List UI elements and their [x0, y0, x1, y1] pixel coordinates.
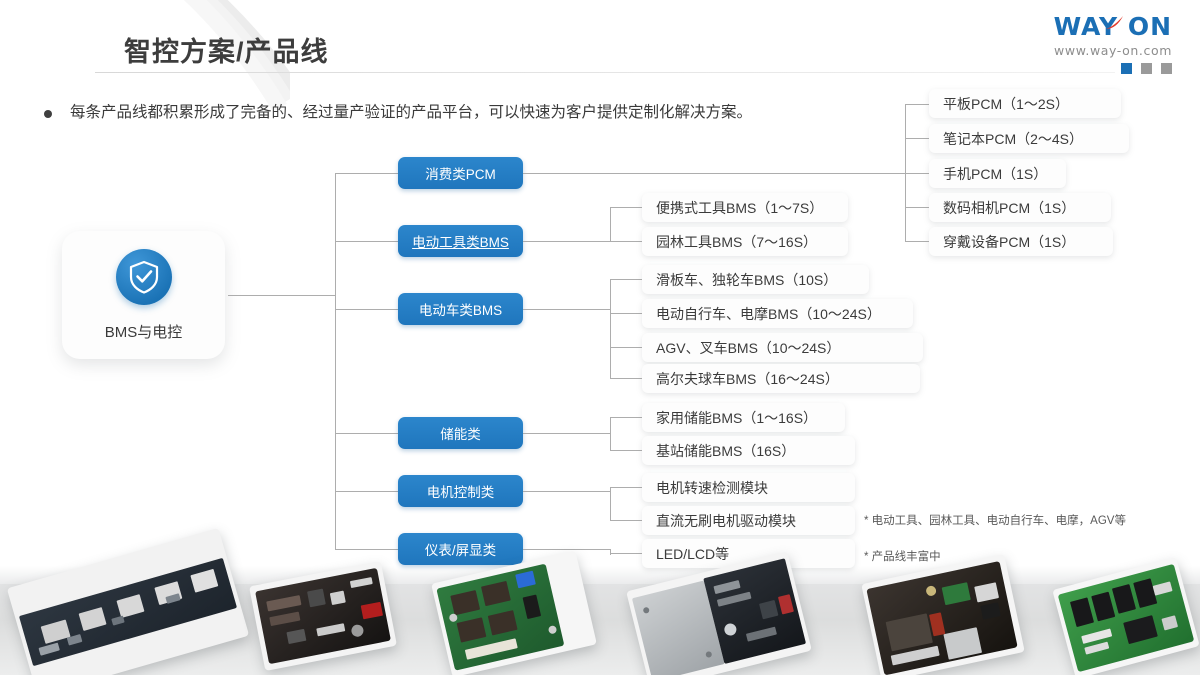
connector-branch5-to-subtrunk — [523, 549, 611, 550]
subtrunk-branch1 — [610, 207, 611, 242]
leaf-node-bldc-driver-module[interactable]: 直流无刷电机驱动模块 — [642, 506, 855, 535]
branch-node-ev-bms[interactable]: 电动车类BMS — [398, 293, 523, 325]
connector-leaf-0-4 — [905, 241, 929, 242]
connector-root-to-trunk — [228, 295, 336, 296]
root-node-bms[interactable]: BMS与电控 — [62, 231, 225, 359]
connector-leaf-1-1 — [610, 241, 642, 242]
connector-leaf-4-1 — [610, 520, 642, 521]
connector-leaf-2-1 — [610, 313, 642, 314]
logo-square-1 — [1121, 63, 1132, 74]
leaf-node-portable-tool-bms[interactable]: 便携式工具BMS（1～7S） — [642, 193, 848, 222]
leaf-node-label: 便携式工具BMS（1～7S） — [656, 198, 823, 218]
leaf-node-label: 手机PCM（1S） — [943, 164, 1047, 184]
leaf-node-label: 平板PCM（1～2S） — [943, 94, 1069, 114]
leaf-node-label: 笔记本PCM（2～4S） — [943, 129, 1083, 149]
leaf-node-phone-pcm[interactable]: 手机PCM（1S） — [929, 159, 1066, 188]
connector-stub-branch-3 — [335, 433, 398, 434]
connector-leaf-1-0 — [610, 207, 642, 208]
branch-node-label: 电动车类BMS — [419, 299, 502, 319]
branch-node-display[interactable]: 仪表/屏显类 — [398, 533, 523, 565]
leaf-node-garden-tool-bms[interactable]: 园林工具BMS（7～16S） — [642, 227, 848, 256]
leaf-node-wearable-pcm[interactable]: 穿戴设备PCM（1S） — [929, 227, 1113, 256]
leaf-node-label: 基站储能BMS（16S） — [656, 441, 795, 461]
page-title: 智控方案/产品线 — [124, 30, 329, 69]
leaf-node-label: AGV、叉车BMS（10～24S） — [656, 338, 840, 358]
leaf-node-label: 园林工具BMS（7～16S） — [656, 232, 817, 252]
leaf-node-label: 滑板车、独轮车BMS（10S） — [656, 270, 837, 290]
leaf-node-agv-bms[interactable]: AGV、叉车BMS（10～24S） — [642, 333, 923, 362]
logo-url: www.way-on.com — [1012, 43, 1172, 58]
branch-node-energy-storage[interactable]: 储能类 — [398, 417, 523, 449]
connector-main-trunk — [335, 173, 336, 549]
root-node-label: BMS与电控 — [105, 321, 183, 342]
leaf-node-notebook-pcm[interactable]: 笔记本PCM（2～4S） — [929, 124, 1129, 153]
leaf-node-label: 家用储能BMS（1～16S） — [656, 408, 817, 428]
intro-bullet-text: 每条产品线都积累形成了完备的、经过量产验证的产品平台，可以快速为客户提供定制化解… — [70, 102, 752, 124]
connector-stub-branch-1 — [335, 241, 398, 242]
leaf-node-label: 电机转速检测模块 — [656, 478, 768, 498]
connector-stub-branch-2 — [335, 309, 398, 310]
logo-squares — [1012, 63, 1172, 74]
connector-leaf-3-1 — [610, 450, 642, 451]
leaf-node-golfcart-bms[interactable]: 高尔夫球车BMS（16～24S） — [642, 364, 920, 393]
branch-node-label: 消费类PCM — [425, 163, 496, 183]
subtrunk-branch3 — [610, 417, 611, 450]
intro-bullet: 每条产品线都积累形成了完备的、经过量产验证的产品平台，可以快速为客户提供定制化解… — [44, 102, 752, 124]
slide: 智控方案/产品线 WAY ON www.way-on.com 每条产品线都积累形… — [0, 0, 1200, 675]
branch-node-consumer-pcm[interactable]: 消费类PCM — [398, 157, 523, 189]
bullet-dot-icon — [44, 110, 52, 118]
branch-node-label: 储能类 — [440, 423, 481, 443]
leaf-node-motor-speed-module[interactable]: 电机转速检测模块 — [642, 473, 855, 502]
leaf-node-label: 电动自行车、电摩BMS（10～24S） — [656, 304, 881, 324]
connector-branch3-to-subtrunk — [523, 433, 611, 434]
logo-square-2 — [1141, 63, 1152, 74]
connector-branch1-to-subtrunk — [523, 241, 611, 242]
connector-leaf-0-0 — [905, 104, 929, 105]
leaf-node-basestation-storage-bms[interactable]: 基站储能BMS（16S） — [642, 436, 855, 465]
leaf-node-ebike-bms[interactable]: 电动自行车、电摩BMS（10～24S） — [642, 299, 913, 328]
company-logo: WAY ON www.way-on.com — [1012, 14, 1172, 74]
leaf-node-label: 直流无刷电机驱动模块 — [656, 511, 796, 531]
connector-branch2-to-subtrunk — [523, 309, 611, 310]
connector-leaf-2-3 — [610, 378, 642, 379]
subtrunk-branch2 — [610, 279, 611, 378]
connector-leaf-3-0 — [610, 417, 642, 418]
connector-stub-branch-5 — [335, 549, 398, 550]
logo-wordmark: WAY ON — [1012, 14, 1172, 39]
connector-leaf-4-0 — [610, 487, 642, 488]
leaf-node-scooter-bms[interactable]: 滑板车、独轮车BMS（10S） — [642, 265, 869, 294]
connector-branch0-to-subtrunk — [523, 173, 905, 174]
leaf-node-label: 数码相机PCM（1S） — [943, 198, 1075, 218]
leaf-node-home-storage-bms[interactable]: 家用储能BMS（1～16S） — [642, 403, 845, 432]
connector-leaf-0-3 — [905, 207, 929, 208]
leaf-node-label: LED/LCD等 — [656, 544, 729, 564]
branch-node-label: 电动工具类BMS — [412, 231, 509, 251]
leaf-node-tablet-pcm[interactable]: 平板PCM（1～2S） — [929, 89, 1121, 118]
connector-branch4-to-subtrunk — [523, 491, 611, 492]
logo-square-3 — [1161, 63, 1172, 74]
connector-stub-branch-4 — [335, 491, 398, 492]
connector-leaf-0-2 — [905, 173, 929, 174]
connector-leaf-5-0 — [610, 553, 642, 554]
header-divider — [95, 72, 1115, 73]
connector-leaf-0-1 — [905, 138, 929, 139]
connector-stub-branch-0 — [335, 173, 398, 174]
subtrunk-branch4 — [610, 487, 611, 520]
leaf-node-label: 穿戴设备PCM（1S） — [943, 232, 1075, 252]
connector-leaf-2-0 — [610, 279, 642, 280]
connector-leaf-2-2 — [610, 347, 642, 348]
footnote-product-line: * 产品线丰富中 — [864, 548, 941, 564]
shield-check-glyph — [128, 260, 160, 294]
footnote-motor-applications: * 电动工具、园林工具、电动自行车、电摩，AGV等 — [864, 512, 1126, 528]
logo-swish-icon — [1105, 15, 1125, 31]
branch-node-label: 电机控制类 — [427, 481, 495, 501]
shield-check-icon — [116, 249, 172, 305]
leaf-node-camera-pcm[interactable]: 数码相机PCM（1S） — [929, 193, 1111, 222]
branch-node-power-tool-bms[interactable]: 电动工具类BMS — [398, 225, 523, 257]
leaf-node-label: 高尔夫球车BMS（16～24S） — [656, 369, 839, 389]
branch-node-label: 仪表/屏显类 — [425, 539, 496, 559]
branch-node-motor-control[interactable]: 电机控制类 — [398, 475, 523, 507]
